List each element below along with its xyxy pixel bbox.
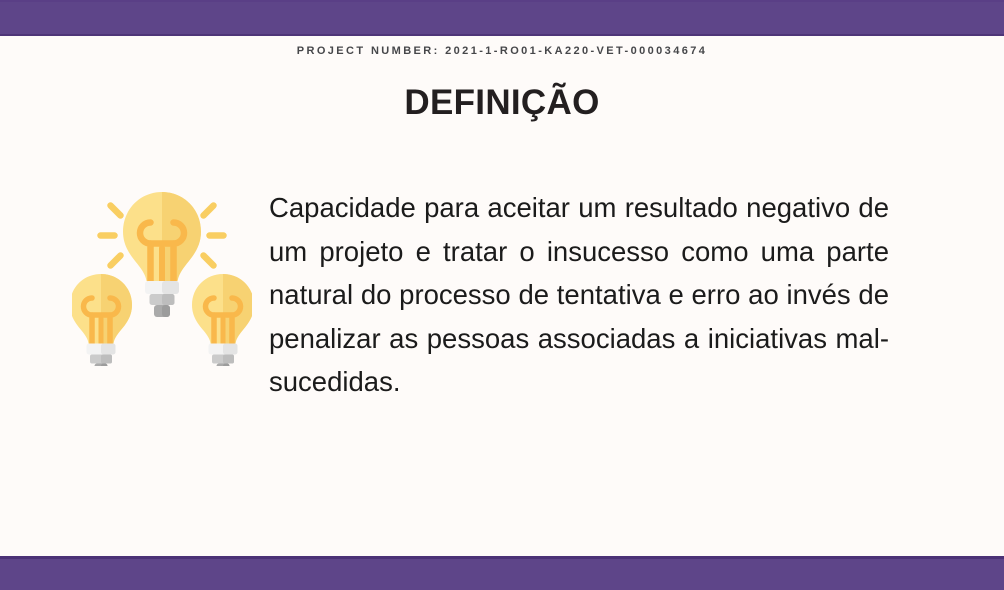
- three-lightbulbs-icon: [72, 186, 252, 366]
- page-title: DEFINIÇÃO: [0, 83, 1004, 123]
- definition-body-text: Capacidade para aceitar um resultado neg…: [269, 186, 889, 447]
- top-decorative-band: [0, 0, 1004, 36]
- project-number-label: PROJECT NUMBER: 2021-1-RO01-KA220-VET-00…: [0, 45, 1004, 57]
- slide-definition: PROJECT NUMBER: 2021-1-RO01-KA220-VET-00…: [0, 0, 1004, 590]
- lightbulb-large-icon: [123, 192, 201, 317]
- lightbulb-small-right-icon: [192, 274, 252, 366]
- bottom-decorative-band: [0, 556, 1004, 590]
- lightbulb-small-left-icon: [72, 274, 132, 366]
